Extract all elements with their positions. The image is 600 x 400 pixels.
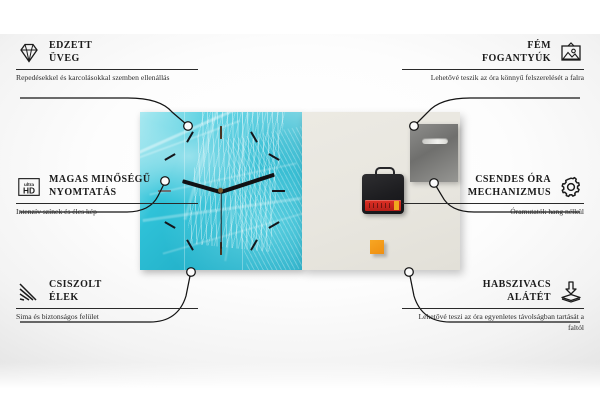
feature-silent-clock-mechanism[interactable]: CSENDES ÓRA MECHANIZMUS Óramutatók hang …	[402, 174, 584, 218]
feature-high-quality-print[interactable]: ultra HD MAGAS MINŐSÉGŰ NYOMTATÁS Intenz…	[16, 174, 198, 218]
feature-title-line2: NYOMTATÁS	[49, 187, 151, 200]
feature-title-line2: FOGANTYÚK	[482, 53, 551, 66]
feature-title-line2: MECHANIZMUS	[468, 187, 551, 200]
diagonal-lines-icon	[16, 280, 42, 304]
feature-description: Lehetővé teszi az óra egyenletes távolsá…	[402, 312, 584, 334]
feature-title-line2: ÜVEG	[49, 53, 92, 66]
connector-endpoint-1	[184, 122, 193, 131]
feature-description: Intenzív színek és éles kép	[16, 207, 198, 218]
badge-large-label: HD	[23, 185, 35, 195]
feature-title-line2: ALÁTÉT	[483, 292, 551, 305]
divider	[16, 69, 198, 70]
connector-endpoint-3	[187, 268, 196, 277]
connector-line-4	[416, 98, 580, 124]
feature-title-line1: EDZETT	[49, 40, 92, 53]
connector-line-1	[20, 98, 186, 124]
feature-title-line1: MAGAS MINŐSÉGŰ	[49, 174, 151, 187]
feature-description: Lehetővé teszik az óra könnyű felszerelé…	[402, 73, 584, 84]
feature-description: Sima és biztonságos felület	[16, 312, 198, 323]
feature-title-line1: HABSZIVACS	[483, 279, 551, 292]
feature-title-line1: CSISZOLT	[49, 279, 102, 292]
feature-metal-handles[interactable]: FÉM FOGANTYÚK Lehetővé teszik az óra kön…	[402, 40, 584, 84]
divider	[402, 203, 584, 204]
divider	[402, 69, 584, 70]
picture-frame-hanger-icon	[558, 41, 584, 65]
feature-tempered-glass[interactable]: EDZETT ÜVEG Repedésekkel és karcolásokka…	[16, 40, 198, 84]
diamond-icon	[16, 41, 42, 65]
feature-title-line1: FÉM	[482, 40, 551, 53]
arrow-down-pad-icon	[558, 280, 584, 304]
connector-endpoint-4	[410, 122, 419, 131]
gear-icon	[558, 175, 584, 199]
feature-description: Óramutatók hang nélkül	[402, 207, 584, 218]
divider	[402, 308, 584, 309]
infographic-canvas: EDZETT ÜVEG Repedésekkel és karcolásokka…	[0, 0, 600, 400]
divider	[16, 308, 198, 309]
connector-endpoint-6	[405, 268, 414, 277]
feature-description: Repedésekkel és karcolásokkal szemben el…	[16, 73, 198, 84]
ultra-hd-badge-icon: ultra HD	[16, 175, 42, 199]
feature-title-line2: ÉLEK	[49, 292, 102, 305]
feature-foam-pad[interactable]: HABSZIVACS ALÁTÉT Lehetővé teszi az óra …	[402, 279, 584, 334]
feature-title-line1: CSENDES ÓRA	[468, 174, 551, 187]
feature-polished-edges[interactable]: CSISZOLT ÉLEK Sima és biztonságos felüle…	[16, 279, 198, 323]
divider	[16, 203, 198, 204]
